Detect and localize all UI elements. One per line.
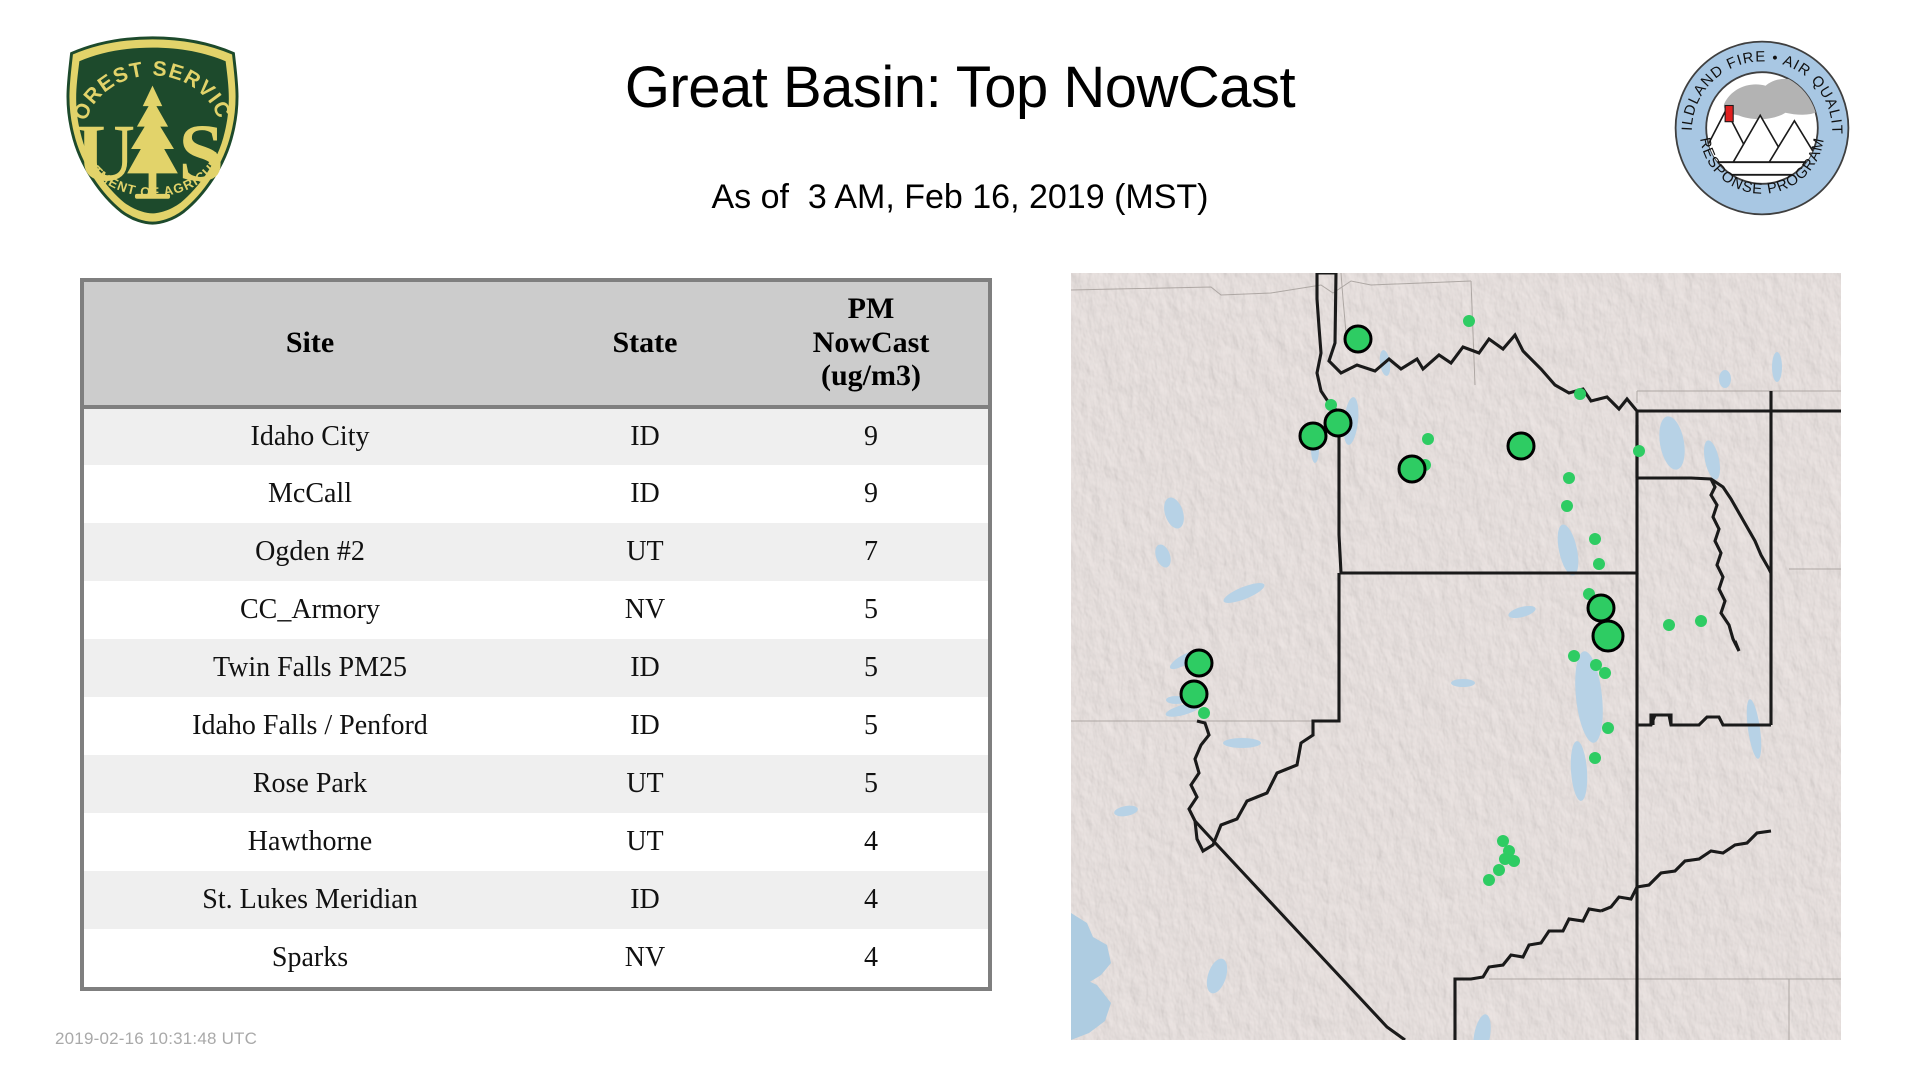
monitor-marker-large[interactable] [1186,650,1212,676]
table-header-row: Site State PM NowCast (ug/m3) [84,282,988,407]
table-row[interactable]: Idaho Falls / PenfordID5 [84,697,988,755]
table-header: Site State PM NowCast (ug/m3) [84,282,988,407]
monitor-marker-small[interactable] [1561,500,1573,512]
nowcast-table-container: Site State PM NowCast (ug/m3) Idaho City… [80,278,992,991]
pm-cell: 9 [754,407,988,465]
monitor-marker-small[interactable] [1593,558,1605,570]
slide-root: FOREST SERVICE DEPARTMENT OF AGRICULTURE… [0,0,1920,1080]
monitor-marker-small[interactable] [1695,615,1707,627]
pm-header-line1: PM [848,292,895,325]
state-cell: NV [536,929,754,987]
table-row[interactable]: St. Lukes MeridianID4 [84,871,988,929]
monitor-marker-small[interactable] [1589,752,1601,764]
monitor-marker-large[interactable] [1508,433,1534,459]
site-cell: CC_Armory [84,581,536,639]
column-header-pm-nowcast[interactable]: PM NowCast (ug/m3) [754,282,988,407]
monitor-marker-small[interactable] [1497,835,1509,847]
monitor-marker-small[interactable] [1198,707,1210,719]
pm-cell: 5 [754,639,988,697]
site-cell: Twin Falls PM25 [84,639,536,697]
monitor-marker-large[interactable] [1588,595,1614,621]
site-cell: Idaho Falls / Penford [84,697,536,755]
monitor-marker-small[interactable] [1574,388,1586,400]
monitor-marker-small[interactable] [1589,533,1601,545]
monitor-marker-small[interactable] [1568,650,1580,662]
monitor-marker-large[interactable] [1300,423,1326,449]
site-cell: McCall [84,465,536,523]
monitor-location-map[interactable] [1071,273,1841,1040]
table-row[interactable]: Idaho CityID9 [84,407,988,465]
pm-cell: 5 [754,581,988,639]
pm-cell: 4 [754,929,988,987]
nowcast-table: Site State PM NowCast (ug/m3) Idaho City… [84,282,988,987]
table-body: Idaho CityID9McCallID9Ogden #2UT7CC_Armo… [84,407,988,987]
pm-cell: 5 [754,755,988,813]
monitor-marker-large[interactable] [1181,681,1207,707]
shield-letter-s: S [178,107,224,198]
table-row[interactable]: Ogden #2UT7 [84,523,988,581]
state-cell: NV [536,581,754,639]
site-cell: Ogden #2 [84,523,536,581]
table-row[interactable]: Rose ParkUT5 [84,755,988,813]
state-cell: ID [536,697,754,755]
usda-forest-service-shield-logo: FOREST SERVICE DEPARTMENT OF AGRICULTURE… [55,32,250,227]
monitor-marker-large[interactable] [1593,621,1623,651]
column-header-state[interactable]: State [536,282,754,407]
table-row[interactable]: Twin Falls PM25ID5 [84,639,988,697]
state-cell: UT [536,813,754,871]
monitor-marker-small[interactable] [1508,855,1520,867]
monitor-marker-small[interactable] [1422,433,1434,445]
pm-cell: 4 [754,813,988,871]
monitor-marker-small[interactable] [1563,472,1575,484]
monitor-marker-large[interactable] [1399,456,1425,482]
monitor-marker-small[interactable] [1633,445,1645,457]
map-svg [1071,273,1841,1040]
monitor-marker-small[interactable] [1599,667,1611,679]
monitor-marker-small[interactable] [1483,874,1495,886]
table-row[interactable]: McCallID9 [84,465,988,523]
pm-cell: 7 [754,523,988,581]
state-cell: UT [536,523,754,581]
site-cell: Sparks [84,929,536,987]
pm-header-line2: NowCast [813,326,930,359]
pm-cell: 4 [754,871,988,929]
pm-cell: 9 [754,465,988,523]
monitor-marker-small[interactable] [1590,659,1602,671]
table-row[interactable]: SparksNV4 [84,929,988,987]
shield-letter-u: U [76,107,135,198]
wfaqrp-seal-logo: WILDLAND FIRE • AIR QUALITY RESPONSE PRO… [1672,38,1852,218]
state-cell: UT [536,755,754,813]
monitor-marker-large[interactable] [1325,410,1351,436]
state-cell: ID [536,465,754,523]
pm-cell: 5 [754,697,988,755]
monitor-marker-large[interactable] [1345,326,1371,352]
table-row[interactable]: HawthorneUT4 [84,813,988,871]
state-cell: ID [536,871,754,929]
pm-header-line3: (ug/m3) [821,359,921,392]
monitor-marker-small[interactable] [1493,864,1505,876]
generated-timestamp: 2019-02-16 10:31:48 UTC [55,1029,257,1049]
monitor-marker-small[interactable] [1463,315,1475,327]
site-cell: Hawthorne [84,813,536,871]
monitor-marker-small[interactable] [1602,722,1614,734]
state-cell: ID [536,639,754,697]
table-row[interactable]: CC_ArmoryNV5 [84,581,988,639]
state-cell: ID [536,407,754,465]
site-cell: Rose Park [84,755,536,813]
site-cell: St. Lukes Meridian [84,871,536,929]
page-title: Great Basin: Top NowCast [300,58,1620,119]
site-cell: Idaho City [84,407,536,465]
monitor-marker-small[interactable] [1663,619,1675,631]
page-subtitle: As of 3 AM, Feb 16, 2019 (MST) [300,178,1620,217]
column-header-site[interactable]: Site [84,282,536,407]
